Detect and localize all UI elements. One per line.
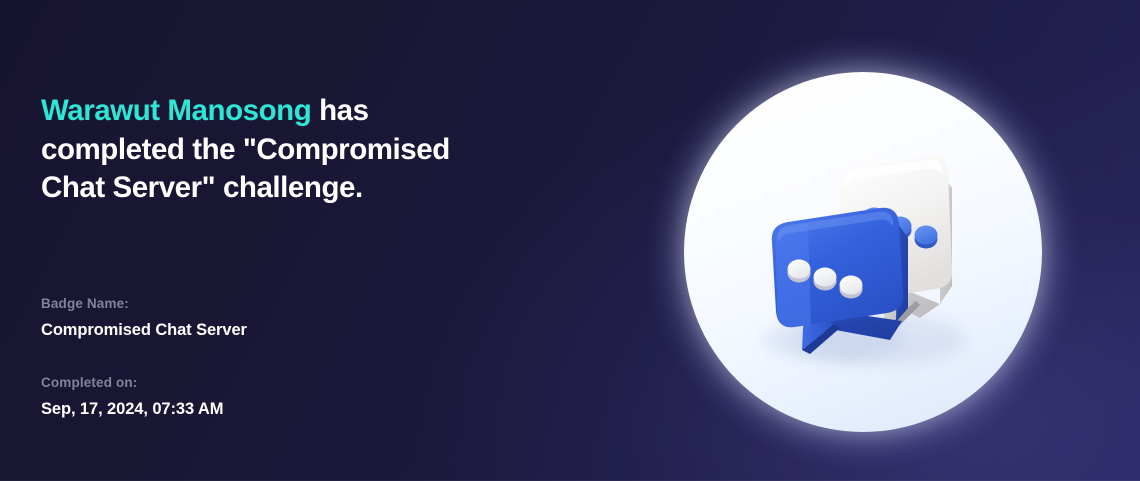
badge-circle: [684, 72, 1042, 432]
chat-bubbles-badge-icon: [684, 72, 1042, 432]
completion-content: Warawut Manosong has completed the "Comp…: [41, 0, 481, 481]
recipient-name: Warawut Manosong: [41, 94, 311, 127]
badge-completion-card: Warawut Manosong has completed the "Comp…: [0, 0, 1140, 481]
completed-on-value: Sep, 17, 2024, 07:33 AM: [41, 399, 223, 420]
badge-name-label: Badge Name:: [41, 294, 247, 313]
completed-on-label: Completed on:: [41, 373, 223, 392]
badge-illustration: [684, 72, 1042, 432]
completion-headline: Warawut Manosong has completed the "Comp…: [41, 92, 481, 208]
completed-on-block: Completed on: Sep, 17, 2024, 07:33 AM: [41, 373, 223, 420]
badge-name-block: Badge Name: Compromised Chat Server: [41, 294, 247, 341]
badge-name-value: Compromised Chat Server: [41, 320, 247, 341]
